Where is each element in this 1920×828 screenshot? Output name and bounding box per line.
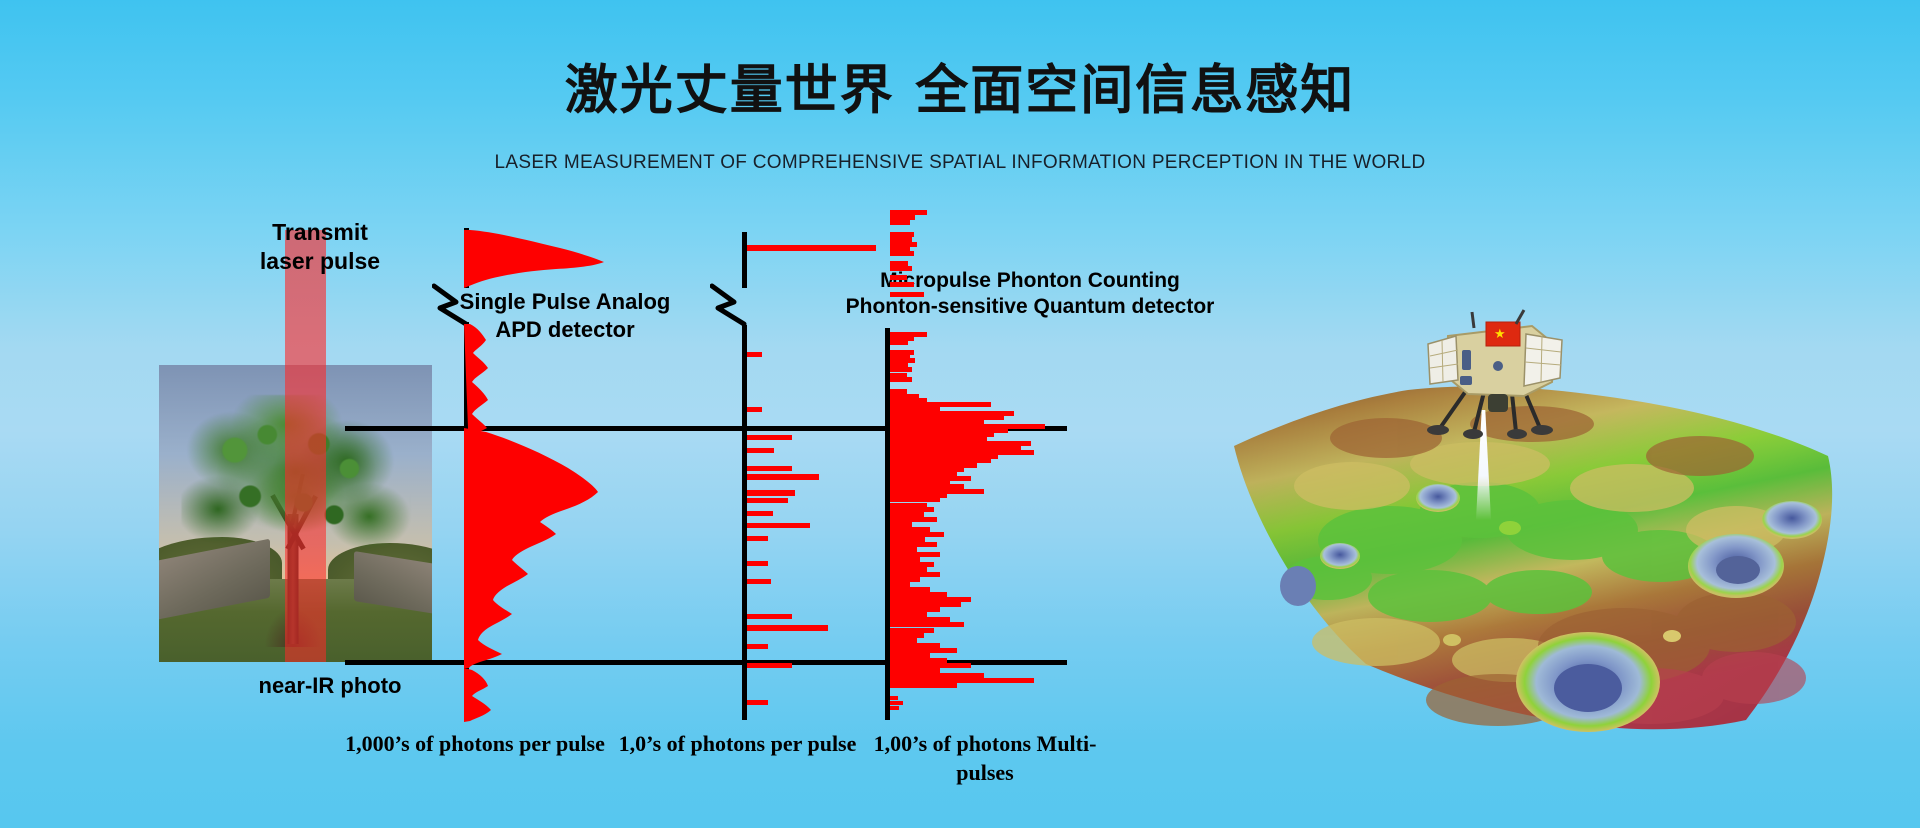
footer-label-analog: 1,000’s of photons per pulse — [330, 730, 620, 759]
photon-bar — [890, 367, 912, 372]
photon-bar — [747, 523, 810, 528]
poster-canvas: 激光丈量世界 全面空间信息感知 LASER MEASUREMENT OF COM… — [0, 0, 1920, 828]
waveform-return-main-lobe — [464, 428, 598, 668]
photon-bar — [890, 340, 908, 345]
photon-bar — [747, 245, 876, 251]
photon-bar — [890, 517, 937, 522]
photon-bar — [747, 407, 762, 412]
photon-bar — [747, 644, 768, 649]
photon-bar — [747, 474, 819, 480]
photon-bar — [747, 498, 788, 503]
photon-bar — [747, 625, 828, 631]
photon-bar — [747, 700, 768, 705]
crater-tiny — [1443, 634, 1461, 646]
page-title: 激光丈量世界 全面空间信息感知 — [0, 48, 1920, 124]
waveform-transmit-pulse — [464, 230, 604, 288]
photon-bar-above-canopy — [890, 266, 912, 271]
photon-bar — [747, 561, 768, 566]
crater-small — [1280, 566, 1316, 606]
flag-star: ★ — [1494, 326, 1506, 341]
transmit-laser-beam — [285, 230, 326, 662]
crater-small — [1320, 543, 1360, 569]
footer-label-single-photon: 1,0’s of photons per pulse — [605, 730, 870, 759]
photon-bar — [747, 511, 773, 516]
photon-bar — [747, 435, 792, 440]
photon-bar — [890, 377, 912, 382]
photon-bar-below-ground — [890, 706, 899, 710]
chart-micropulse-photon-counting — [890, 300, 1070, 720]
page-subtitle: LASER MEASUREMENT OF COMPREHENSIVE SPATI… — [0, 152, 1920, 174]
crater-tiny — [1499, 521, 1521, 535]
label-near-ir-photo: near-IR photo — [215, 672, 445, 700]
photon-bar — [747, 448, 774, 453]
photon-bar-above-canopy — [890, 282, 914, 287]
photon-bar-above-canopy — [890, 275, 907, 280]
photon-bar — [747, 579, 771, 584]
photon-bar — [747, 663, 792, 668]
photon-bar — [747, 614, 792, 619]
photon-bar — [890, 497, 940, 502]
crater-medium-floor — [1716, 556, 1760, 584]
crater-small — [1416, 484, 1460, 512]
photon-bar — [747, 490, 795, 496]
footer-label-multipulse: 1,00’s of photons Multi-pulses — [845, 730, 1125, 787]
photon-bar — [747, 466, 792, 471]
lunar-dem-scene: ★ — [1180, 300, 1900, 770]
photon-bar-below-ground — [890, 696, 898, 700]
photon-bar-below-ground — [890, 680, 896, 684]
waveform-below-ground — [464, 668, 491, 722]
lander-panel-right — [1524, 334, 1562, 386]
lunar-lander: ★ — [1412, 300, 1592, 450]
lander-footpads — [1427, 425, 1553, 439]
crater-small — [1762, 501, 1822, 539]
chart-single-pulse-analog — [464, 228, 694, 724]
label-transmit-laser-pulse: Transmit laser pulse — [210, 218, 430, 276]
crater-tiny — [1663, 630, 1681, 642]
photon-bar — [747, 352, 762, 357]
photon-bar-above-canopy — [890, 292, 924, 297]
photon-bar — [747, 536, 768, 541]
photon-bar-above-canopy — [890, 251, 914, 256]
lander-nozzle — [1488, 394, 1508, 412]
photon-bar — [890, 683, 957, 688]
crater-large-floor — [1554, 664, 1622, 712]
photon-bar-above-canopy — [890, 220, 910, 225]
